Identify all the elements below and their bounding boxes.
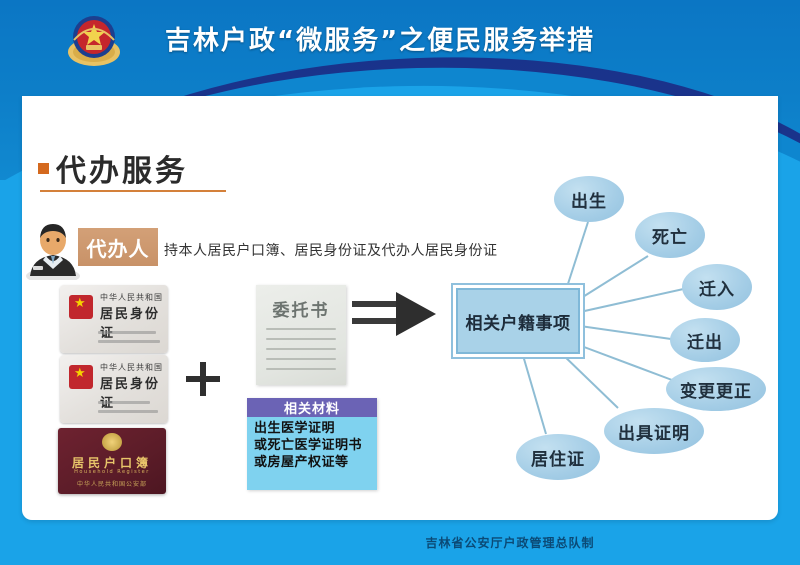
right-block-arrow: [352, 292, 436, 340]
slide-canvas: 吉林户政“微服务”之便民服务举措 代办服务 代办人 持本人居民户口簿、居民身份证…: [0, 0, 800, 565]
household-register-book: 居民户口簿 Household Register 中华人民共和国公安部: [58, 428, 166, 494]
section-title: 代办服务: [56, 146, 188, 190]
materials-line: 或房屋产权证等: [254, 454, 377, 471]
national-emblem-icon: [69, 365, 93, 389]
node-death: 死亡: [635, 212, 705, 258]
businessman-avatar-icon: [22, 218, 84, 280]
police-badge-emblem: [66, 12, 122, 70]
footer-credit: 吉林省公安厅户政管理总队制: [300, 534, 720, 551]
page-title: 吉林户政“微服务”之便民服务举措: [165, 20, 595, 57]
section-bullet-icon: [38, 163, 49, 174]
id-card-country: 中华人民共和国: [100, 292, 163, 303]
agent-requirement-note: 持本人居民户口簿、居民身份证及代办人居民身份证: [164, 240, 498, 260]
id-card-title: 居民身份证: [100, 373, 168, 411]
id-card-1: 中华人民共和国 居民身份证: [60, 285, 168, 353]
node-change-correct: 变更更正: [666, 367, 766, 411]
node-birth: 出生: [554, 176, 624, 222]
id-card-country: 中华人民共和国: [100, 362, 163, 373]
materials-line: 出生医学证明: [254, 420, 377, 437]
related-materials-box: 相关材料 出生医学证明 或死亡医学证明书 或房屋产权证等: [247, 398, 377, 490]
node-issue-certificate: 出具证明: [604, 408, 704, 454]
book-subtitle: Household Register: [58, 469, 166, 475]
agent-role-chip: 代办人: [78, 228, 158, 266]
authorization-letter: 委托书: [256, 285, 346, 385]
node-residence-permit: 居住证: [516, 434, 600, 480]
central-node: 相关户籍事项: [456, 288, 580, 354]
materials-body: 出生医学证明 或死亡医学证明书 或房屋产权证等: [247, 417, 377, 471]
gold-emblem-icon: [102, 433, 122, 451]
id-card-title: 居民身份证: [100, 303, 168, 341]
id-card-2: 中华人民共和国 居民身份证: [60, 355, 168, 423]
letter-title: 委托书: [256, 296, 346, 321]
node-move-in: 迁入: [682, 264, 752, 310]
plus-icon: [186, 362, 220, 396]
materials-line: 或死亡医学证明书: [254, 437, 377, 454]
materials-header: 相关材料: [247, 398, 377, 417]
book-footer: 中华人民共和国公安部: [58, 479, 166, 488]
section-underline: [40, 190, 226, 192]
node-move-out: 迁出: [670, 318, 740, 362]
national-emblem-icon: [69, 295, 93, 319]
